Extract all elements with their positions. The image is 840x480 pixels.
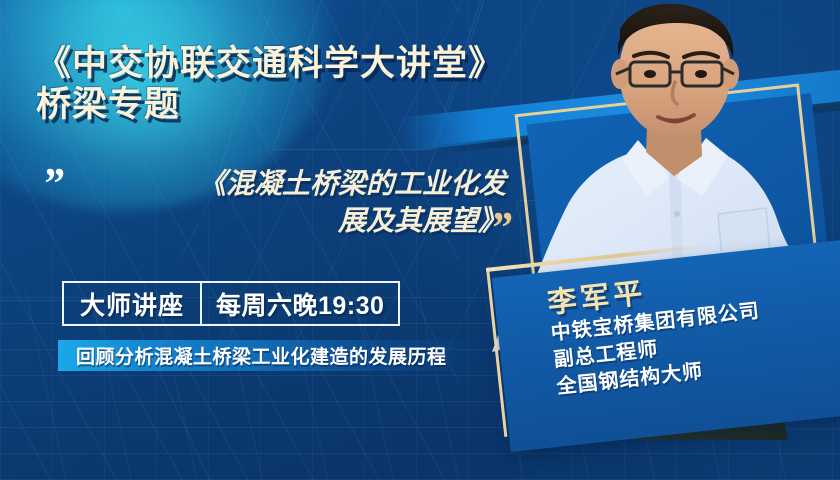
lecture-poster: 《中交协联交通科学大讲堂》 桥梁专题 ” 《混凝土桥梁的工业化发 展及其展望》 … <box>0 0 840 480</box>
schedule-box: 大师讲座 每周六晚19:30 <box>62 281 400 326</box>
quote-block: ” 《混凝土桥梁的工业化发 展及其展望》 ” <box>40 162 520 267</box>
decorative-box-4 <box>0 300 234 480</box>
quote-close-mark: ” <box>490 206 509 250</box>
quote-text: 《混凝土桥梁的工业化发 展及其展望》 <box>86 166 506 240</box>
schedule-time-label: 每周六晚19:30 <box>202 283 398 324</box>
schedule-tag-label: 大师讲座 <box>64 283 202 324</box>
quote-open-mark: ” <box>42 162 61 206</box>
subtitle-bar: 回顾分析混凝土桥梁工业化建造的发展历程 <box>58 340 478 371</box>
page-title: 《中交协联交通科学大讲堂》 桥梁专题 <box>36 44 636 126</box>
subtitle-text: 回顾分析混凝土桥梁工业化建造的发展历程 <box>58 342 447 369</box>
